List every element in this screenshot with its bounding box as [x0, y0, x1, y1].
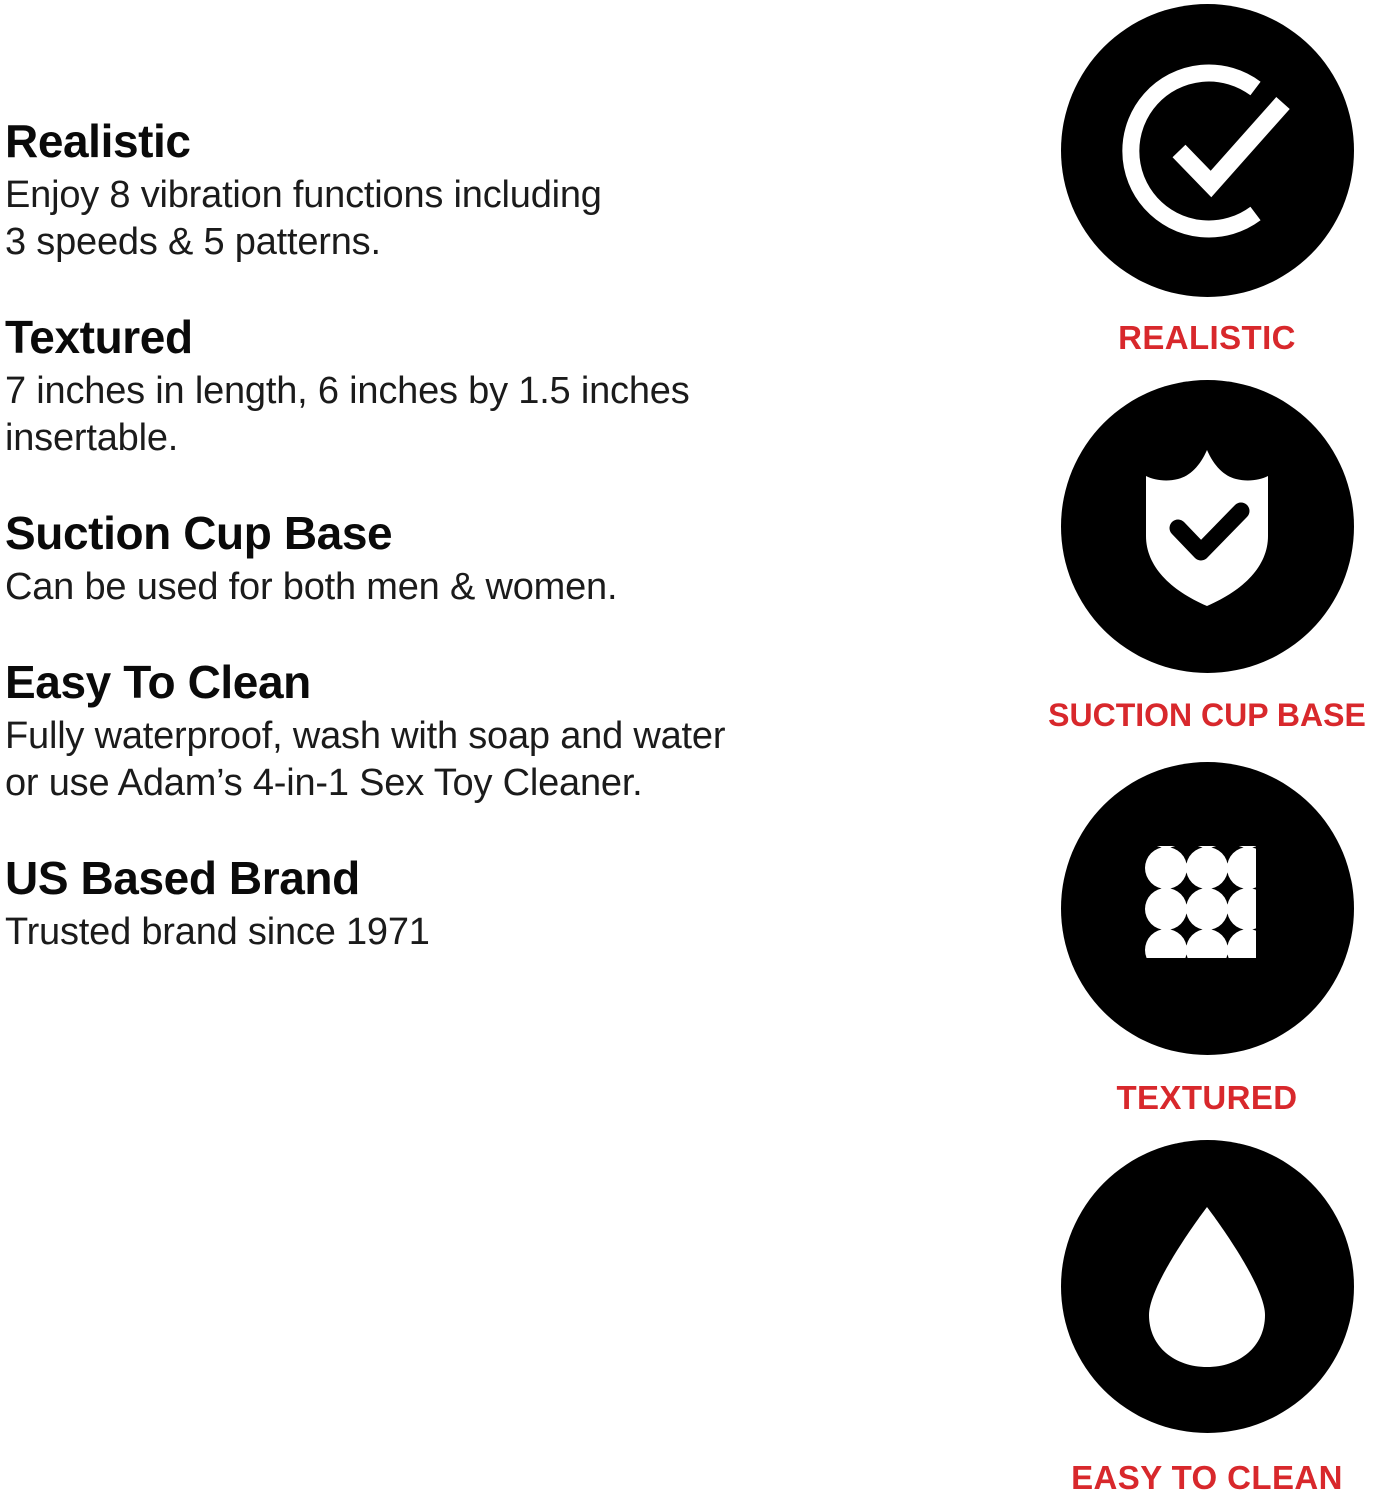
water-drop-icon: [1127, 1197, 1287, 1377]
badge-label: REALISTIC: [1027, 321, 1387, 354]
feature-description-line: Trusted brand since 1971: [5, 909, 905, 956]
feature-item-suction-cup-base: Suction Cup Base Can be used for both me…: [5, 510, 905, 611]
feature-description-line: or use Adam’s 4-in-1 Sex Toy Cleaner.: [5, 760, 905, 807]
check-circle-arc-icon: [1107, 51, 1307, 251]
feature-description: Can be used for both men & women.: [5, 564, 905, 611]
feature-title: Easy To Clean: [5, 659, 905, 707]
feature-title: Suction Cup Base: [5, 510, 905, 558]
feature-description: Trusted brand since 1971: [5, 909, 905, 956]
badge-label: SUCTION CUP BASE: [1027, 699, 1387, 731]
badge-disc: [1061, 4, 1354, 297]
badge-realistic: REALISTIC: [1027, 4, 1387, 354]
feature-title: Textured: [5, 314, 905, 362]
dot-grid-icon: [1132, 834, 1282, 984]
feature-description: Fully waterproof, wash with soap and wat…: [5, 713, 905, 807]
feature-description-line: Can be used for both men & women.: [5, 564, 905, 611]
feature-item-easy-to-clean: Easy To Clean Fully waterproof, wash wit…: [5, 659, 905, 807]
badge-disc: [1061, 1140, 1354, 1433]
badge-disc: [1061, 762, 1354, 1055]
feature-description-line: insertable.: [5, 415, 905, 462]
product-feature-graphic: Realistic Enjoy 8 vibration functions in…: [0, 0, 1387, 1500]
feature-title: Realistic: [5, 118, 905, 166]
badge-list: REALISTIC SUCTION CUP BASE: [1027, 0, 1387, 1500]
feature-description-line: 3 speeds & 5 patterns.: [5, 219, 905, 266]
feature-description-line: 7 inches in length, 6 inches by 1.5 inch…: [5, 368, 905, 415]
feature-description: 7 inches in length, 6 inches by 1.5 inch…: [5, 368, 905, 462]
feature-description-line: Enjoy 8 vibration functions including: [5, 172, 905, 219]
shield-check-icon: [1112, 432, 1302, 622]
feature-item-textured: Textured 7 inches in length, 6 inches by…: [5, 314, 905, 462]
badge-textured: TEXTURED: [1027, 762, 1387, 1114]
feature-description: Enjoy 8 vibration functions including 3 …: [5, 172, 905, 266]
feature-list: Realistic Enjoy 8 vibration functions in…: [5, 118, 905, 956]
badge-suction-cup-base: SUCTION CUP BASE: [1027, 380, 1387, 731]
feature-title: US Based Brand: [5, 855, 905, 903]
badge-disc: [1061, 380, 1354, 673]
feature-description-line: Fully waterproof, wash with soap and wat…: [5, 713, 905, 760]
feature-item-realistic: Realistic Enjoy 8 vibration functions in…: [5, 118, 905, 266]
feature-item-us-based-brand: US Based Brand Trusted brand since 1971: [5, 855, 905, 956]
badge-label: TEXTURED: [1027, 1081, 1387, 1114]
badge-label: EASY TO CLEAN: [1027, 1461, 1387, 1494]
badge-easy-to-clean: EASY TO CLEAN: [1027, 1140, 1387, 1494]
